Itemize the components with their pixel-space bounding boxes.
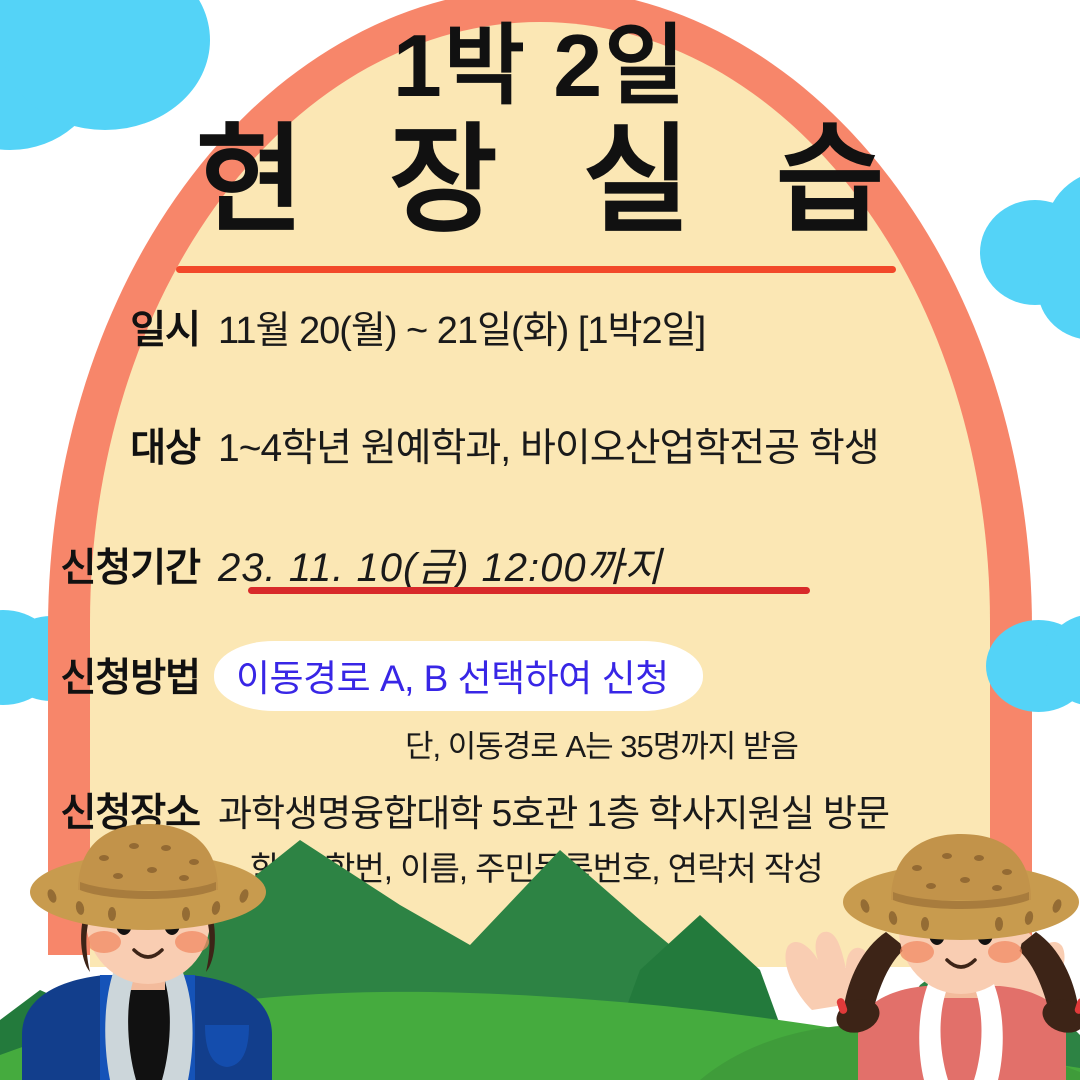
info-rows: 일시 11월 20(월) ~ 21일(화) [1박2일] 대상 1~4학년 원예… [0,295,1080,890]
note-method: 단, 이동경로 A는 35명까지 받음 [0,721,1080,766]
info-row-date: 일시 11월 20(월) ~ 21일(화) [1박2일] [0,299,1080,355]
info-row-method: 신청방법 이동경로 A, B 선택하여 신청 [0,641,1080,711]
label-period: 신청기간 [0,537,218,593]
poster-canvas: 1박 2일 현 장 실 습 일시 11월 20(월) ~ 21일(화) [1박2… [0,0,1080,1080]
straw-hat-icon [30,824,266,930]
value-method: 이동경로 A, B 선택하여 신청 [236,658,669,699]
method-highlight: 이동경로 A, B 선택하여 신청 [214,641,703,711]
bottom-scene [0,820,1080,1080]
label-method: 신청방법 [0,647,218,703]
value-date: 11월 20(월) ~ 21일(화) [1박2일] [218,299,705,354]
info-row-target: 대상 1~4학년 원예학과, 바이오산업학전공 학생 [0,417,1080,473]
straw-hat-icon [843,834,1079,940]
period-underline [248,587,810,594]
label-target: 대상 [0,417,218,473]
label-date: 일시 [0,299,218,355]
info-row-period: 신청기간 23. 11. 10(금) 12:00까지 [0,535,1080,593]
value-target: 1~4학년 원예학과, 바이오산업학전공 학생 [218,417,879,473]
title-line-1: 1박 2일 [0,22,1080,110]
title-line-2: 현 장 실 습 [0,120,1080,244]
title-divider [176,266,896,273]
value-period: 23. 11. 10(금) 12:00까지 [218,535,662,593]
